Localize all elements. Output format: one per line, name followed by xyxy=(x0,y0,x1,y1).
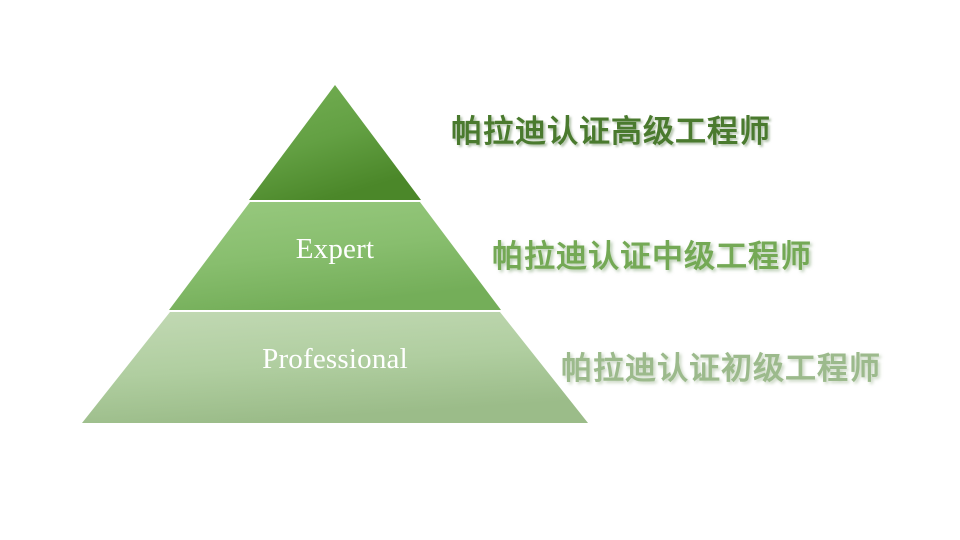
pyramid-tier-expert[interactable] xyxy=(249,85,421,200)
slide-canvas: Expert Professional Engineer 帕拉迪认证高级工程师 … xyxy=(0,0,960,540)
pyramid-tier-label-engineer: Engineer xyxy=(82,451,588,493)
pyramid-tier-professional[interactable] xyxy=(169,202,501,310)
certification-caption-engineer: 帕拉迪认证初级工程师 xyxy=(561,347,881,391)
certification-caption-expert: 帕拉迪认证高级工程师 xyxy=(451,110,771,154)
certification-caption-professional: 帕拉迪认证中级工程师 xyxy=(492,235,812,279)
pyramid-tier-engineer[interactable] xyxy=(82,312,588,423)
